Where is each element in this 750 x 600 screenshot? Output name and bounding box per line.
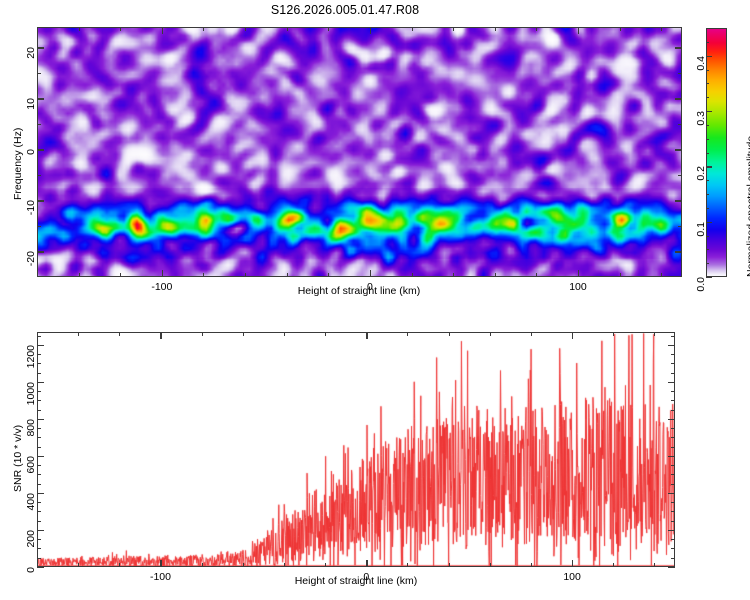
axis-tick: [37, 558, 41, 559]
axis-tick: [613, 332, 614, 336]
y-tick-label: 800: [25, 419, 37, 437]
axis-tick: [654, 563, 655, 567]
axis-tick: [37, 539, 41, 540]
colorbar-tick: [706, 194, 709, 195]
axis-tick: [37, 502, 41, 503]
axis-tick: [671, 410, 675, 411]
axis-tick: [671, 354, 675, 355]
spectrogram-x-axis-label: Height of straight line (km): [298, 285, 421, 297]
axis-tick: [37, 98, 44, 99]
axis-tick: [328, 273, 329, 277]
y-tick-label: 1000: [25, 382, 37, 405]
axis-tick: [37, 382, 44, 383]
axis-tick: [661, 273, 662, 277]
page-title: S126.2026.005.01.47.R08: [0, 3, 690, 17]
axis-tick: [37, 363, 41, 364]
axis-tick: [162, 270, 163, 277]
axis-tick: [668, 493, 675, 494]
y-tick-label: 0: [25, 149, 37, 155]
axis-tick: [490, 563, 491, 567]
axis-tick: [671, 373, 675, 374]
snr-frame: [37, 332, 675, 567]
axis-tick: [119, 332, 120, 336]
axis-tick: [572, 560, 573, 567]
axis-tick: [668, 345, 675, 346]
axis-tick: [37, 521, 41, 522]
axis-tick: [668, 382, 675, 383]
axis-tick: [531, 332, 532, 336]
snr-plot: [37, 332, 675, 567]
axis-tick: [366, 560, 367, 567]
axis-tick: [78, 332, 79, 336]
axis-tick: [202, 563, 203, 567]
axis-tick: [37, 548, 41, 549]
y-tick-label: 10: [25, 98, 37, 110]
axis-tick: [202, 332, 203, 336]
colorbar-tick: [706, 263, 709, 264]
axis-tick: [578, 270, 579, 277]
axis-tick: [412, 273, 413, 277]
axis-tick: [412, 27, 413, 31]
colorbar-axis-label: Normalized spectral amplitude: [745, 136, 750, 277]
axis-tick: [37, 437, 41, 438]
axis-tick: [671, 521, 675, 522]
axis-tick: [531, 563, 532, 567]
axis-tick: [671, 437, 675, 438]
axis-tick: [37, 474, 41, 475]
y-tick-label: 200: [25, 530, 37, 548]
axis-tick: [675, 200, 682, 201]
x-tick-label: 100: [569, 281, 587, 293]
axis-tick: [671, 336, 675, 337]
axis-tick: [37, 456, 44, 457]
y-tick-label: 400: [25, 493, 37, 511]
axis-tick: [245, 273, 246, 277]
axis-tick: [79, 273, 80, 277]
axis-tick: [203, 27, 204, 31]
spectrogram-y-axis-label: Frequency (Hz): [12, 128, 24, 200]
axis-tick: [328, 27, 329, 31]
axis-tick: [370, 270, 371, 277]
spectrogram-frame: [37, 27, 682, 277]
y-tick-label: -10: [25, 200, 37, 215]
axis-tick: [536, 273, 537, 277]
axis-tick: [671, 391, 675, 392]
axis-tick: [287, 27, 288, 31]
axis-tick: [675, 251, 682, 252]
axis-tick: [668, 456, 675, 457]
axis-tick: [37, 336, 41, 337]
axis-tick: [449, 563, 450, 567]
axis-tick: [671, 539, 675, 540]
axis-tick: [678, 73, 682, 74]
axis-tick: [370, 27, 371, 34]
axis-tick: [671, 558, 675, 559]
axis-tick: [119, 563, 120, 567]
axis-tick: [675, 47, 682, 48]
axis-tick: [671, 484, 675, 485]
axis-tick: [37, 410, 41, 411]
axis-tick: [490, 332, 491, 336]
axis-tick: [37, 567, 44, 568]
axis-tick: [37, 373, 41, 374]
axis-tick: [668, 530, 675, 531]
axis-tick: [37, 400, 41, 401]
axis-tick: [243, 563, 244, 567]
axis-tick: [37, 511, 41, 512]
y-tick-label: 600: [25, 456, 37, 474]
axis-tick: [325, 332, 326, 336]
axis-tick: [37, 484, 41, 485]
x-tick-label: -100: [150, 571, 171, 583]
axis-tick: [37, 345, 44, 346]
figure-root: S126.2026.005.01.47.R08 -1000100-20-1001…: [0, 0, 750, 600]
axis-tick: [37, 47, 44, 48]
axis-tick: [678, 226, 682, 227]
colorbar-tick: [706, 139, 709, 140]
axis-tick: [453, 27, 454, 31]
snr-x-axis-label: Height of straight line (km): [295, 575, 418, 587]
axis-tick: [671, 428, 675, 429]
colorbar-tick: [706, 83, 709, 84]
colorbar: [706, 28, 727, 277]
axis-tick: [243, 332, 244, 336]
y-tick-label: 20: [25, 47, 37, 59]
x-tick-label: -100: [151, 281, 172, 293]
axis-tick: [120, 27, 121, 31]
snr-y-axis-label: SNR (10 * v/v): [12, 425, 24, 492]
colorbar-tick-label: 0.0: [695, 277, 707, 292]
axis-tick: [37, 226, 41, 227]
y-tick-label: 0: [25, 567, 37, 573]
axis-tick: [37, 73, 41, 74]
axis-tick: [79, 27, 80, 31]
axis-tick: [120, 273, 121, 277]
axis-tick: [37, 428, 41, 429]
axis-tick: [572, 332, 573, 339]
axis-tick: [678, 175, 682, 176]
axis-tick: [37, 175, 41, 176]
axis-tick: [671, 363, 675, 364]
axis-tick: [453, 273, 454, 277]
colorbar-tick: [706, 153, 709, 154]
axis-tick: [668, 419, 675, 420]
axis-tick: [620, 273, 621, 277]
colorbar-tick: [706, 208, 709, 209]
axis-tick: [160, 332, 161, 339]
axis-tick: [671, 474, 675, 475]
axis-tick: [671, 511, 675, 512]
axis-tick: [325, 563, 326, 567]
y-tick-label: -20: [25, 251, 37, 266]
axis-tick: [668, 567, 675, 568]
colorbar-tick-label: 0.4: [695, 56, 707, 71]
axis-tick: [675, 98, 682, 99]
axis-tick: [160, 560, 161, 567]
axis-tick: [671, 447, 675, 448]
axis-tick: [671, 465, 675, 466]
axis-tick: [407, 563, 408, 567]
axis-tick: [613, 563, 614, 567]
y-tick-label: 1200: [25, 345, 37, 368]
axis-tick: [37, 447, 41, 448]
axis-tick: [245, 27, 246, 31]
spectrogram-plot: [37, 27, 682, 277]
axis-tick: [671, 548, 675, 549]
colorbar-tick: [706, 249, 709, 250]
axis-tick: [449, 332, 450, 336]
x-tick-label: 100: [563, 571, 581, 583]
axis-tick: [495, 27, 496, 31]
axis-tick: [37, 149, 44, 150]
colorbar-tick-label: 0.3: [695, 111, 707, 126]
axis-tick: [671, 502, 675, 503]
axis-tick: [675, 149, 682, 150]
axis-tick: [366, 332, 367, 339]
axis-tick: [162, 27, 163, 34]
axis-tick: [536, 27, 537, 31]
colorbar-tick: [706, 42, 709, 43]
axis-tick: [37, 124, 41, 125]
axis-tick: [671, 400, 675, 401]
axis-tick: [495, 273, 496, 277]
axis-tick: [37, 354, 41, 355]
axis-tick: [37, 200, 44, 201]
axis-tick: [37, 493, 44, 494]
axis-tick: [37, 530, 44, 531]
axis-tick: [37, 251, 44, 252]
axis-tick: [284, 563, 285, 567]
axis-tick: [661, 27, 662, 31]
axis-tick: [407, 332, 408, 336]
axis-tick: [37, 391, 41, 392]
axis-tick: [37, 419, 44, 420]
colorbar-tick-label: 0.2: [695, 166, 707, 181]
colorbar-gradient: [706, 28, 727, 277]
colorbar-tick: [706, 97, 709, 98]
axis-tick: [654, 332, 655, 336]
colorbar-tick-label: 0.1: [695, 222, 707, 237]
axis-tick: [203, 273, 204, 277]
axis-tick: [287, 273, 288, 277]
axis-tick: [37, 465, 41, 466]
axis-tick: [78, 563, 79, 567]
axis-tick: [578, 27, 579, 34]
axis-tick: [284, 332, 285, 336]
axis-tick: [620, 27, 621, 31]
axis-tick: [678, 124, 682, 125]
